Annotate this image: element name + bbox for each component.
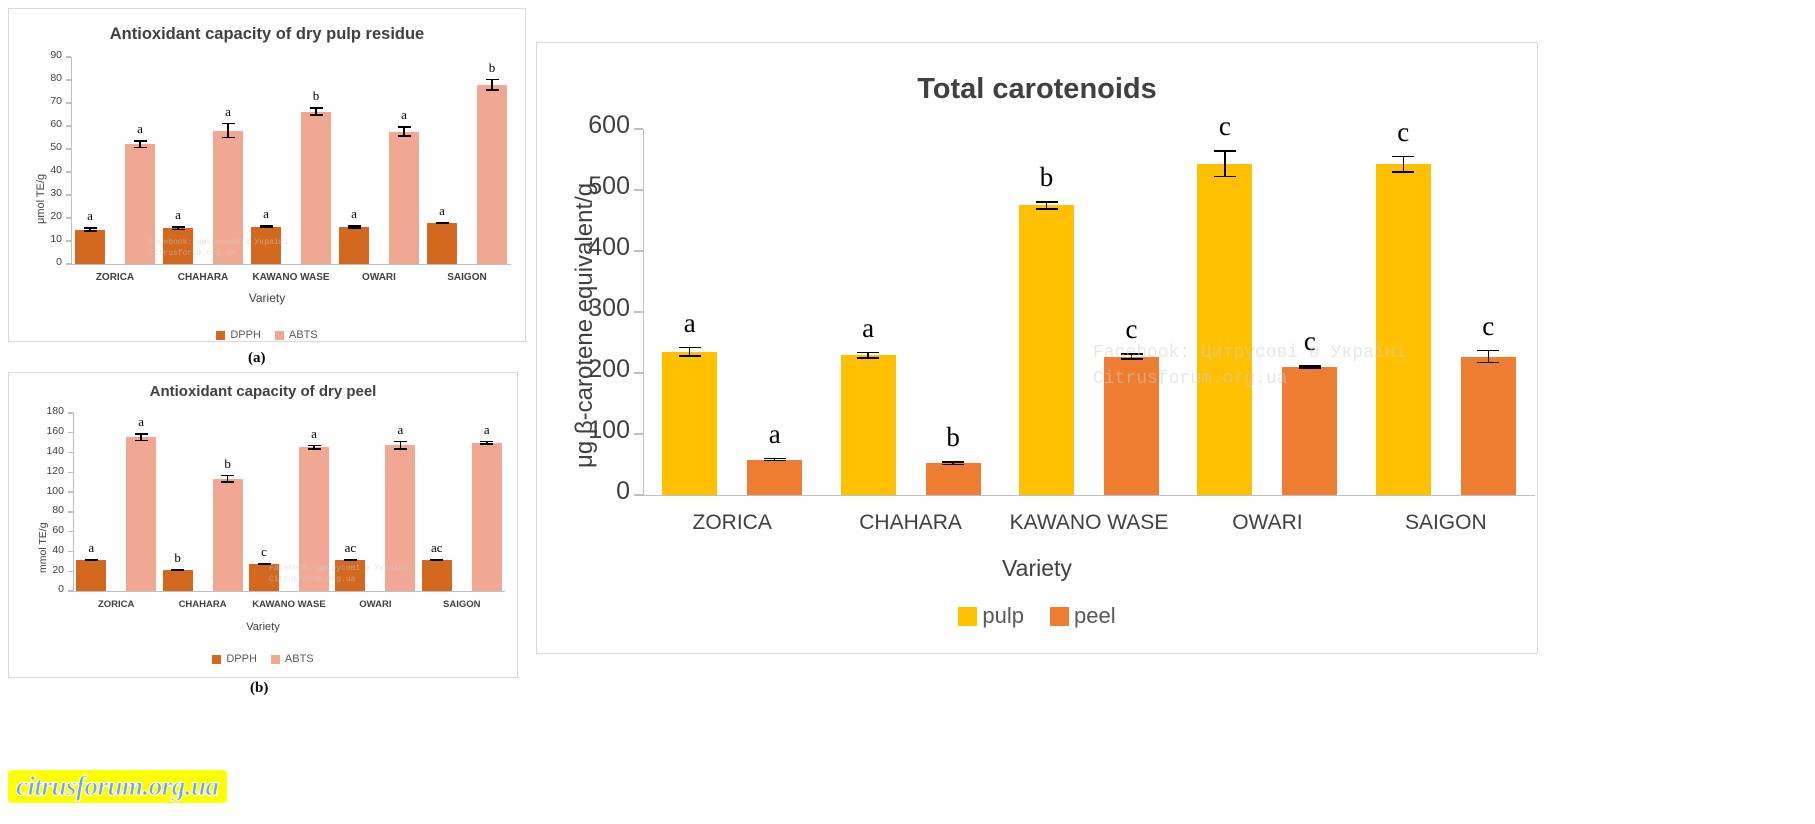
y-tick-label: 600 [510, 111, 630, 140]
x-tick-label: ZORICA [73, 599, 159, 610]
error-bar [308, 445, 321, 450]
panel-a-antioxidant-pulp: Antioxidant capacity of dry pulp residue… [8, 8, 526, 342]
panel-a-caption: (a) [248, 350, 266, 367]
bar-abts-chahara [213, 131, 243, 264]
legend-item-peel[interactable]: peel [1050, 603, 1116, 629]
bar-abts-zorica [125, 144, 155, 264]
bar-abts-owari [385, 445, 415, 591]
y-tick [634, 128, 643, 129]
error-bar [1392, 156, 1414, 173]
panel-b-antioxidant-peel: Antioxidant capacity of dry peel mmol TE… [8, 372, 518, 678]
panel-b-title: Antioxidant capacity of dry peel [9, 383, 517, 400]
x-tick-label: KAWANO WASE [247, 272, 335, 283]
y-tick-label: 70 [0, 95, 62, 107]
error-bar [398, 126, 411, 136]
error-bar [679, 347, 701, 357]
bar-dpph-saigon [427, 223, 457, 264]
y-axis-line [73, 413, 74, 591]
legend-item-dpph[interactable]: DPPH [212, 653, 257, 665]
legend-swatch-icon [275, 331, 284, 340]
y-tick [634, 494, 643, 495]
significance-label: ac [407, 540, 467, 556]
y-tick [68, 412, 73, 413]
bar-peel-kawano-wase [1104, 357, 1159, 495]
x-tick-label: KAWANO WASE [1000, 511, 1178, 535]
significance-label: a [457, 422, 517, 438]
significance-label: a [61, 540, 121, 556]
x-tick-label: ZORICA [643, 511, 821, 535]
bar-pulp-kawano-wase [1019, 205, 1074, 495]
y-tick [634, 250, 643, 251]
x-tick-label: OWARI [332, 599, 418, 610]
legend-label: pulp [982, 603, 1024, 629]
significance-label: a [236, 206, 296, 222]
y-tick-label: 50 [0, 141, 62, 153]
significance-label: c [1458, 311, 1518, 342]
y-tick [66, 56, 71, 57]
error-bar [486, 79, 499, 91]
bar-pulp-chahara [841, 355, 896, 495]
significance-label: a [745, 419, 805, 450]
panel-main-plot-area: 0100200300400500600aaZORICAabCHAHARAbcKA… [643, 129, 1535, 495]
error-bar [480, 441, 493, 445]
panel-b-x-axis-label: Variety [9, 621, 517, 633]
y-tick [68, 491, 73, 492]
significance-label: b [923, 422, 983, 453]
y-axis-line [71, 57, 72, 264]
x-axis-line [643, 495, 1535, 496]
error-bar [1299, 365, 1321, 369]
y-tick [66, 102, 71, 103]
panel-b-plot-area: 020406080100120140160180aaZORICAbbCHAHAR… [73, 413, 505, 591]
error-bar [344, 559, 357, 561]
error-bar [258, 563, 271, 565]
panel-main-x-axis-label: Variety [537, 555, 1537, 582]
error-bar [84, 227, 97, 232]
y-tick [634, 189, 643, 190]
panel-a-plot-area: 0102030405060708090aaZORICAaaCHAHARAabKA… [71, 57, 511, 264]
panel-main-total-carotenoids: Total carotenoids μg β-carotene equivale… [536, 42, 1538, 654]
legend-item-dpph[interactable]: DPPH [216, 329, 261, 341]
bar-dpph-kawano-wase [251, 227, 281, 264]
legend-item-pulp[interactable]: pulp [958, 603, 1024, 629]
y-tick [66, 263, 71, 264]
legend-label: DPPH [226, 653, 257, 665]
x-tick-label: OWARI [335, 272, 423, 283]
error-bar [942, 461, 964, 465]
y-tick-label: 0 [0, 256, 62, 268]
panel-b-legend: DPPHABTS [9, 653, 517, 665]
y-tick [634, 372, 643, 373]
y-axis-line [643, 129, 644, 495]
x-tick-label: OWARI [1178, 511, 1356, 535]
panel-a-x-axis-label: Variety [9, 291, 525, 305]
significance-label: a [198, 104, 258, 120]
y-tick-label: 200 [510, 355, 630, 384]
bar-abts-kawano-wase [301, 112, 331, 264]
legend-swatch-icon [1050, 607, 1069, 626]
y-tick-label: 30 [0, 187, 62, 199]
significance-label: a [838, 313, 898, 344]
bar-dpph-chahara [163, 570, 193, 591]
y-tick-label: 0 [0, 583, 64, 595]
y-tick [66, 194, 71, 195]
y-tick [68, 531, 73, 532]
bar-abts-owari [389, 132, 419, 264]
error-bar [1214, 150, 1236, 177]
x-tick-label: CHAHARA [159, 272, 247, 283]
error-bar [430, 559, 443, 561]
x-tick-label: SAIGON [423, 272, 511, 283]
bar-abts-saigon [477, 85, 507, 264]
error-bar [172, 226, 185, 230]
y-tick-label: 40 [0, 164, 62, 176]
x-axis-line [73, 591, 505, 592]
significance-label: a [324, 206, 384, 222]
y-tick [66, 125, 71, 126]
legend-label: ABTS [289, 329, 318, 341]
bar-dpph-kawano-wase [249, 564, 279, 591]
x-tick-label: KAWANO WASE [246, 599, 332, 610]
significance-label: c [1195, 111, 1255, 142]
x-axis-line [71, 264, 511, 265]
x-tick-label: SAIGON [419, 599, 505, 610]
error-bar [260, 225, 273, 228]
y-tick-label: 60 [0, 524, 64, 536]
error-bar [436, 222, 449, 224]
legend-item-abts[interactable]: ABTS [275, 329, 318, 341]
panel-a-title: Antioxidant capacity of dry pulp residue [9, 25, 525, 44]
error-bar [85, 559, 98, 561]
significance-label: b [286, 88, 346, 104]
panel-main-title: Total carotenoids [537, 73, 1537, 106]
error-bar [348, 225, 361, 228]
y-tick-label: 300 [510, 294, 630, 323]
y-tick-label: 90 [0, 49, 62, 61]
significance-label: b [148, 550, 208, 566]
legend-swatch-icon [271, 655, 280, 664]
bar-abts-chahara [213, 479, 243, 591]
error-bar [310, 107, 323, 115]
y-tick-label: 400 [510, 233, 630, 262]
bar-pulp-owari [1197, 164, 1252, 495]
bar-peel-owari [1282, 367, 1337, 495]
error-bar [857, 352, 879, 359]
bar-dpph-zorica [75, 230, 105, 265]
y-tick [68, 432, 73, 433]
bar-abts-zorica [126, 437, 156, 591]
significance-label: a [148, 207, 208, 223]
x-tick-label: SAIGON [1357, 511, 1535, 535]
legend-label: peel [1074, 603, 1116, 629]
legend-label: ABTS [285, 653, 314, 665]
legend-swatch-icon [958, 607, 977, 626]
significance-label: a [284, 426, 344, 442]
y-tick-label: 60 [0, 118, 62, 130]
significance-label: b [198, 456, 258, 472]
y-tick-label: 40 [0, 544, 64, 556]
y-tick [634, 311, 643, 312]
site-watermark-stamp: citrusforum.org.ua [8, 770, 227, 803]
error-bar [222, 123, 235, 139]
significance-label: a [370, 422, 430, 438]
x-tick-label: CHAHARA [159, 599, 245, 610]
error-bar [1477, 350, 1499, 363]
bar-pulp-zorica [662, 352, 717, 495]
y-tick [68, 452, 73, 453]
bar-dpph-owari [335, 560, 365, 591]
y-tick-label: 120 [0, 465, 64, 477]
error-bar [1036, 201, 1058, 210]
y-tick-label: 20 [0, 210, 62, 222]
y-tick [68, 472, 73, 473]
error-bar [764, 458, 786, 462]
panel-b-caption: (b) [250, 680, 268, 697]
y-tick-label: 10 [0, 233, 62, 245]
significance-label: a [111, 414, 171, 430]
bar-dpph-zorica [76, 560, 106, 591]
significance-label: c [1373, 117, 1433, 148]
x-tick-label: CHAHARA [821, 511, 999, 535]
error-bar [221, 475, 234, 483]
error-bar [1121, 353, 1143, 359]
y-tick [66, 79, 71, 80]
y-tick [66, 171, 71, 172]
y-tick-label: 80 [0, 72, 62, 84]
significance-label: ac [320, 540, 380, 556]
significance-label: a [60, 208, 120, 224]
y-tick [68, 511, 73, 512]
y-tick-label: 100 [510, 416, 630, 445]
significance-label: c [1280, 326, 1340, 357]
bar-peel-chahara [926, 463, 981, 495]
bar-dpph-owari [339, 227, 369, 264]
significance-label: a [412, 203, 472, 219]
significance-label: a [110, 121, 170, 137]
legend-label: DPPH [230, 329, 261, 341]
error-bar [135, 433, 148, 441]
significance-label: b [1017, 162, 1077, 193]
bar-abts-kawano-wase [299, 447, 329, 591]
y-tick [66, 240, 71, 241]
y-tick [68, 571, 73, 572]
error-bar [394, 441, 407, 450]
y-tick-label: 180 [0, 405, 64, 417]
bar-peel-zorica [747, 460, 802, 495]
y-tick [634, 433, 643, 434]
y-tick-label: 500 [510, 172, 630, 201]
y-tick [68, 590, 73, 591]
legend-swatch-icon [216, 331, 225, 340]
legend-swatch-icon [212, 655, 221, 664]
significance-label: b [462, 60, 522, 76]
error-bar [134, 140, 147, 148]
x-tick-label: ZORICA [71, 272, 159, 283]
bar-peel-saigon [1461, 357, 1516, 495]
y-tick-label: 140 [0, 445, 64, 457]
significance-label: a [374, 107, 434, 123]
significance-label: c [1102, 314, 1162, 345]
bar-dpph-chahara [163, 228, 193, 264]
y-tick-label: 160 [0, 425, 64, 437]
legend-item-abts[interactable]: ABTS [271, 653, 314, 665]
y-tick-label: 0 [510, 477, 630, 506]
y-tick [66, 148, 71, 149]
bar-dpph-saigon [422, 560, 452, 591]
bar-pulp-saigon [1376, 164, 1431, 495]
y-tick-label: 100 [0, 485, 64, 497]
y-tick-label: 20 [0, 564, 64, 576]
error-bar [171, 569, 184, 571]
significance-label: a [660, 308, 720, 339]
significance-label: c [234, 544, 294, 560]
bar-abts-saigon [472, 443, 502, 591]
y-tick-label: 80 [0, 504, 64, 516]
panel-main-legend: pulppeel [537, 603, 1537, 629]
panel-a-legend: DPPHABTS [9, 329, 525, 341]
